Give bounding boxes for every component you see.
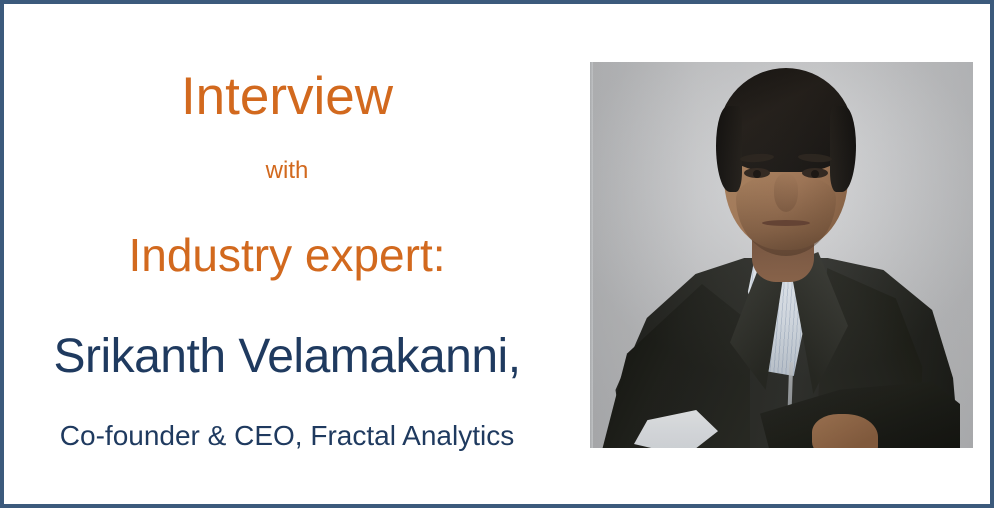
person-name: Srikanth Velamakanni, bbox=[4, 333, 570, 381]
text-column: Interview with Industry expert: Srikanth… bbox=[4, 4, 570, 504]
title-connector: with bbox=[4, 159, 570, 183]
hair-right bbox=[830, 106, 856, 192]
photo-left-edge bbox=[590, 62, 593, 448]
pupil-left bbox=[753, 170, 761, 178]
page-subtitle: Industry expert: bbox=[4, 232, 570, 278]
slide-container: Interview with Industry expert: Srikanth… bbox=[0, 0, 994, 508]
pupil-right bbox=[811, 170, 819, 178]
photo-subject bbox=[590, 62, 973, 448]
mouth bbox=[762, 220, 810, 226]
nose bbox=[774, 174, 798, 212]
hair-left bbox=[716, 106, 742, 192]
page-title: Interview bbox=[4, 70, 570, 123]
portrait-photo bbox=[590, 62, 973, 448]
person-role: Co-founder & CEO, Fractal Analytics bbox=[4, 422, 570, 450]
